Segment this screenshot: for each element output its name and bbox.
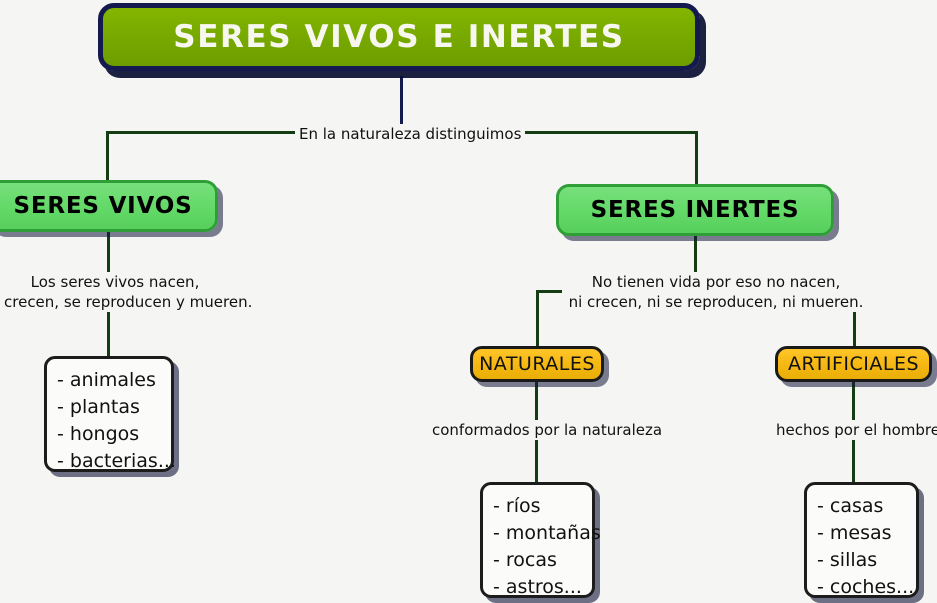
node-seres-inertes-label: SERES INERTES bbox=[591, 197, 800, 223]
page-title: SERES VIVOS E INERTES bbox=[173, 19, 624, 55]
link-label-naturaleza: En la naturaleza distinguimos bbox=[295, 124, 525, 144]
list-item: - bacterias... bbox=[57, 448, 159, 475]
list-seres-vivos-examples: - animales - plantas - hongos - bacteria… bbox=[44, 356, 174, 472]
description-seres-vivos-line2: crecen, se reproducen y mueren. bbox=[4, 292, 226, 312]
description-seres-inertes: No tienen vida por eso no nacen, ni crec… bbox=[562, 272, 870, 312]
list-item: - ríos bbox=[493, 493, 580, 520]
node-naturales[interactable]: NATURALES bbox=[470, 346, 604, 382]
list-naturales-examples: - ríos - montañas - rocas - astros... bbox=[480, 482, 595, 598]
connector-to-seres-vivos bbox=[106, 131, 109, 185]
list-item: - animales bbox=[57, 367, 159, 394]
list-artificiales-examples: - casas - mesas - sillas - coches... bbox=[804, 482, 919, 598]
node-artificiales[interactable]: ARTIFICIALES bbox=[775, 346, 932, 382]
node-seres-vivos-label: SERES VIVOS bbox=[14, 193, 193, 219]
caption-naturales: conformados por la naturaleza bbox=[428, 420, 654, 440]
list-item: - astros... bbox=[493, 574, 580, 601]
diagram-title-box: SERES VIVOS E INERTES bbox=[98, 3, 700, 71]
list-item: - coches... bbox=[817, 574, 904, 601]
description-seres-inertes-line2: ni crecen, ni se reproducen, ni mueren. bbox=[566, 292, 866, 312]
concept-map-canvas: SERES VIVOS E INERTES En la naturaleza d… bbox=[0, 0, 937, 603]
node-naturales-label: NATURALES bbox=[479, 353, 595, 375]
connector-to-naturales bbox=[536, 290, 539, 350]
list-item: - plantas bbox=[57, 394, 159, 421]
list-item: - hongos bbox=[57, 421, 159, 448]
connector-to-seres-inertes bbox=[695, 131, 698, 189]
node-artificiales-label: ARTIFICIALES bbox=[788, 353, 919, 375]
list-item: - montañas bbox=[493, 520, 580, 547]
list-item: - sillas bbox=[817, 547, 904, 574]
node-seres-vivos[interactable]: SERES VIVOS bbox=[0, 180, 218, 232]
node-seres-inertes[interactable]: SERES INERTES bbox=[556, 184, 834, 236]
description-seres-vivos: Los seres vivos nacen, crecen, se reprod… bbox=[0, 272, 230, 312]
list-item: - rocas bbox=[493, 547, 580, 574]
list-item: - casas bbox=[817, 493, 904, 520]
description-seres-inertes-line1: No tienen vida por eso no nacen, bbox=[566, 272, 866, 292]
description-seres-vivos-line1: Los seres vivos nacen, bbox=[4, 272, 226, 292]
list-item: - mesas bbox=[817, 520, 904, 547]
caption-artificiales: hechos por el hombre bbox=[768, 420, 937, 440]
